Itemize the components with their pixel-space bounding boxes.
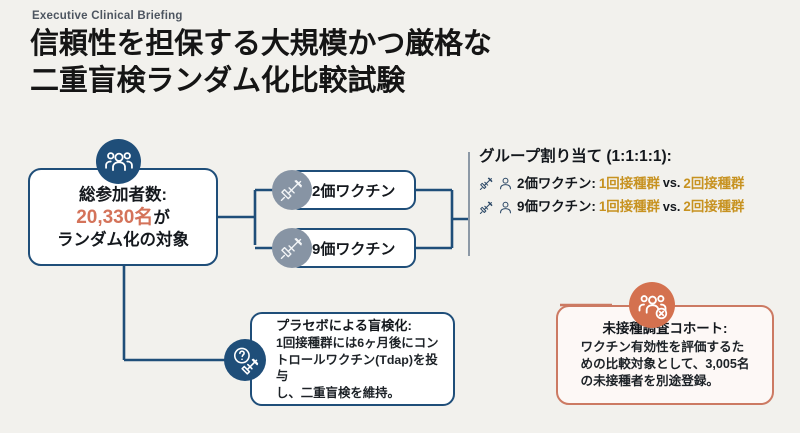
total-participants-number: 20,330名が — [76, 206, 170, 231]
syringe-icon — [479, 176, 494, 191]
eyebrow-label: Executive Clinical Briefing — [32, 10, 183, 22]
person-icon — [498, 176, 513, 191]
group-assignment-heading: グループ割り当て (1:1:1:1): — [479, 148, 795, 167]
assignment-vs-label: vs. — [663, 200, 681, 216]
unvaccinated-cohort-body: ワクチン有効性を評価するた めの比較対象として、3,005名 の未接種者を別途登… — [580, 339, 749, 390]
people-group-icon — [96, 139, 141, 184]
syringe-icon — [272, 228, 312, 268]
question-syringe-icon — [224, 339, 266, 381]
person-icon — [498, 200, 513, 215]
vaccine-arm-nonavalent-label: 9価ワクチン — [312, 238, 395, 259]
total-participants-label: 総参加者数: — [79, 185, 167, 206]
assignment-vs-label: vs. — [663, 176, 681, 192]
panel-divider — [468, 152, 470, 256]
participants-count: 20,330名 — [76, 207, 153, 228]
assignment-arm-label: 9価ワクチン: — [517, 199, 596, 216]
placebo-blinding-body: 1回接種群には6ヶ月後にコン トロールワクチン(Tdap)を投与 し、二重盲検を… — [276, 335, 445, 401]
placebo-blinding-box: プラセボによる盲検化: 1回接種群には6ヶ月後にコン トロールワクチン(Tdap… — [250, 312, 455, 406]
assignment-option-b: 2回接種群 — [683, 176, 744, 193]
page-title: 信頼性を担保する大規模かつ厳格な 二重盲検ランダム化比較試験 — [30, 26, 492, 100]
syringe-icon — [272, 170, 312, 210]
group-assignment-panel: グループ割り当て (1:1:1:1): 2価ワクチン: 1回接種群 v — [479, 148, 795, 223]
slide-canvas: Executive Clinical Briefing 信頼性を担保する大規模か… — [0, 0, 800, 433]
assignment-option-b: 2回接種群 — [683, 199, 744, 216]
assignment-row: 9価ワクチン: 1回接種群 vs. 2回接種群 — [479, 199, 795, 216]
placebo-blinding-heading: プラセボによる盲検化: — [276, 317, 412, 334]
vaccine-arm-bivalent-label: 2価ワクチン — [312, 180, 395, 201]
assignment-option-a: 1回接種群 — [599, 176, 660, 193]
syringe-icon — [479, 200, 494, 215]
people-group-excluded-icon — [629, 282, 675, 328]
assignment-option-a: 1回接種群 — [599, 199, 660, 216]
assignment-row: 2価ワクチン: 1回接種群 vs. 2回接種群 — [479, 176, 795, 193]
participants-count-suffix: が — [153, 209, 170, 227]
randomization-label: ランダム化の対象 — [57, 230, 189, 251]
assignment-arm-label: 2価ワクチン: — [517, 176, 596, 193]
